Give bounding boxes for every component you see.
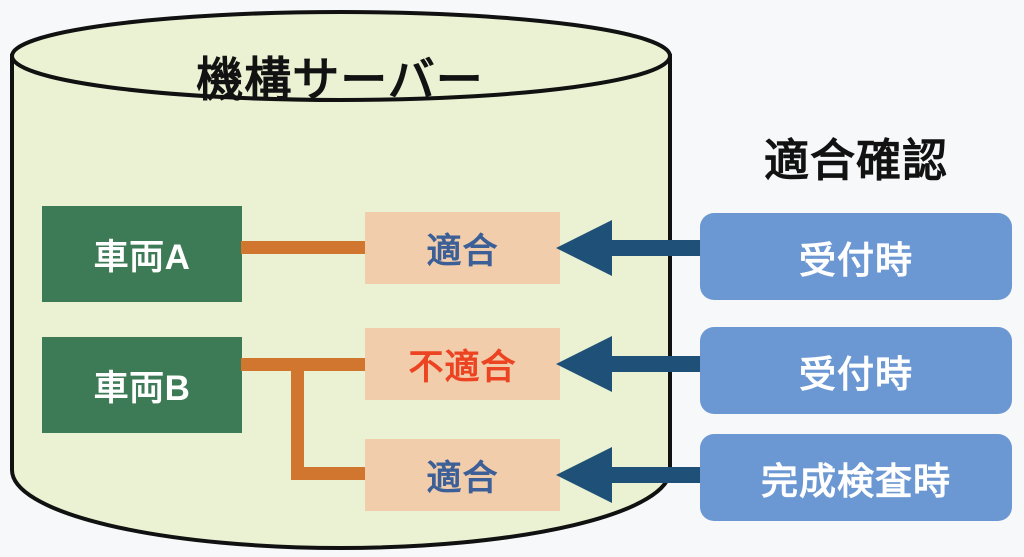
diagram-canvas: 機構サーバー 車両A 車両B 適合 不適合 適合 適合確認 受付時 受付時 完成… (0, 0, 1024, 557)
connector-vehicle-a-to-result-1 (241, 241, 367, 254)
timing-box-1[interactable]: 受付時 (700, 213, 1012, 300)
arrow-left-icon-1 (552, 216, 704, 280)
connector-vehicle-b-horizontal (241, 358, 367, 371)
result-box-1[interactable]: 適合 (365, 212, 560, 284)
vehicle-box-a[interactable]: 車両A (42, 206, 242, 302)
arrow-left-icon-2 (552, 332, 704, 396)
timing-box-3[interactable]: 完成検査時 (700, 434, 1012, 521)
result-box-2[interactable]: 不適合 (365, 328, 560, 400)
conformity-check-header: 適合確認 (700, 124, 1012, 189)
arrow-left-icon-3 (552, 443, 704, 507)
server-title: 機構サーバー (10, 55, 670, 104)
connector-vehicle-b-branch (291, 467, 367, 480)
vehicle-box-b[interactable]: 車両B (42, 337, 242, 433)
connector-vehicle-b-vertical (291, 358, 304, 480)
timing-box-2[interactable]: 受付時 (700, 327, 1012, 414)
result-box-3[interactable]: 適合 (365, 439, 560, 511)
